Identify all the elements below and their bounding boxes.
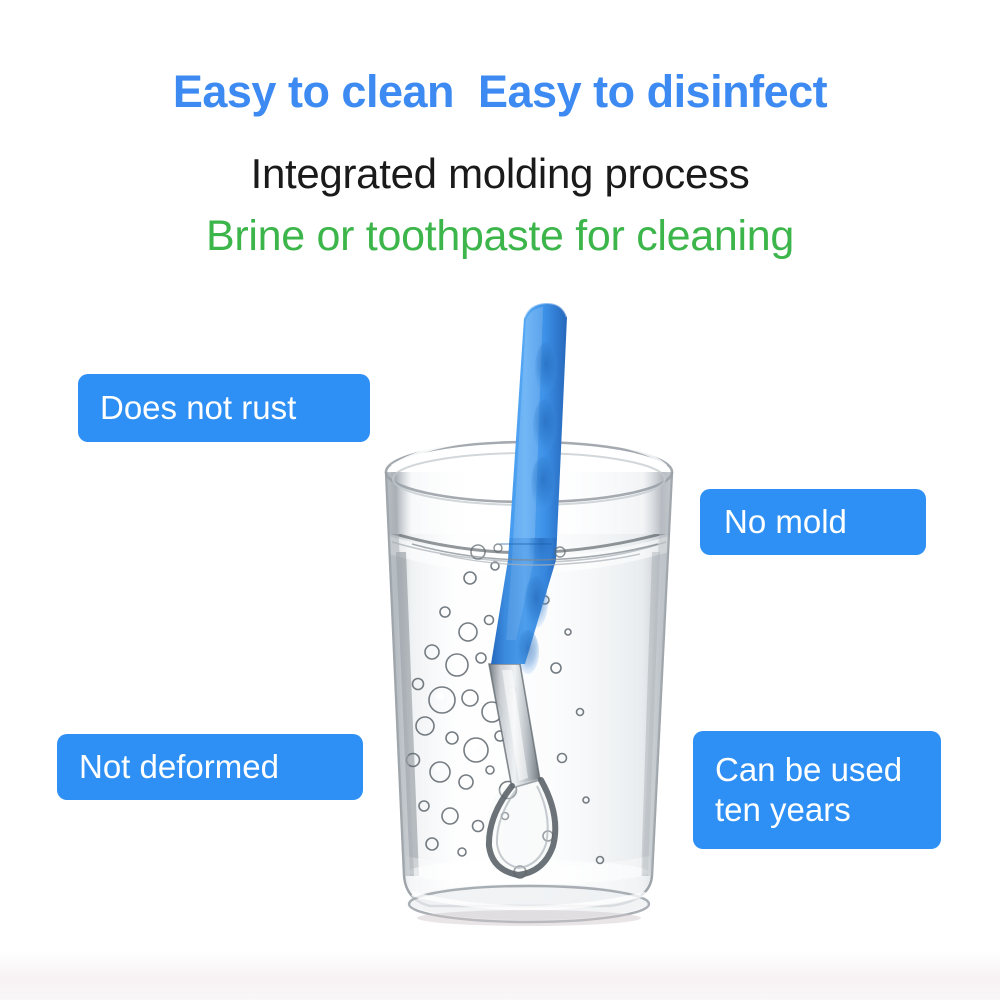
badge-label: No mold: [724, 502, 847, 542]
table-surface: [0, 952, 1000, 1000]
badge-not-deformed: Not deformed: [57, 734, 363, 800]
badge-label: Not deformed: [79, 747, 279, 787]
badge-label-line2: ten years: [715, 790, 902, 830]
product-photo: [0, 260, 1000, 1000]
badge-no-mold: No mold: [700, 489, 926, 555]
badge-label: Does not rust: [100, 388, 296, 428]
product-infographic: Easy to clean Easy to disinfect Integrat…: [0, 0, 1000, 1000]
page-title: Easy to clean Easy to disinfect: [0, 66, 1000, 118]
badge-label-block: Can be used ten years: [715, 750, 902, 831]
badge-can-be-used-ten-years: Can be used ten years: [693, 731, 941, 849]
subtitle-cleaning-instruction: Brine or toothpaste for cleaning: [0, 212, 1000, 261]
badge-label-line1: Can be used: [715, 750, 902, 790]
subtitle-molding-process: Integrated molding process: [0, 150, 1000, 198]
badge-does-not-rust: Does not rust: [78, 374, 370, 442]
glass-and-tool-illustration: [0, 260, 1000, 1000]
